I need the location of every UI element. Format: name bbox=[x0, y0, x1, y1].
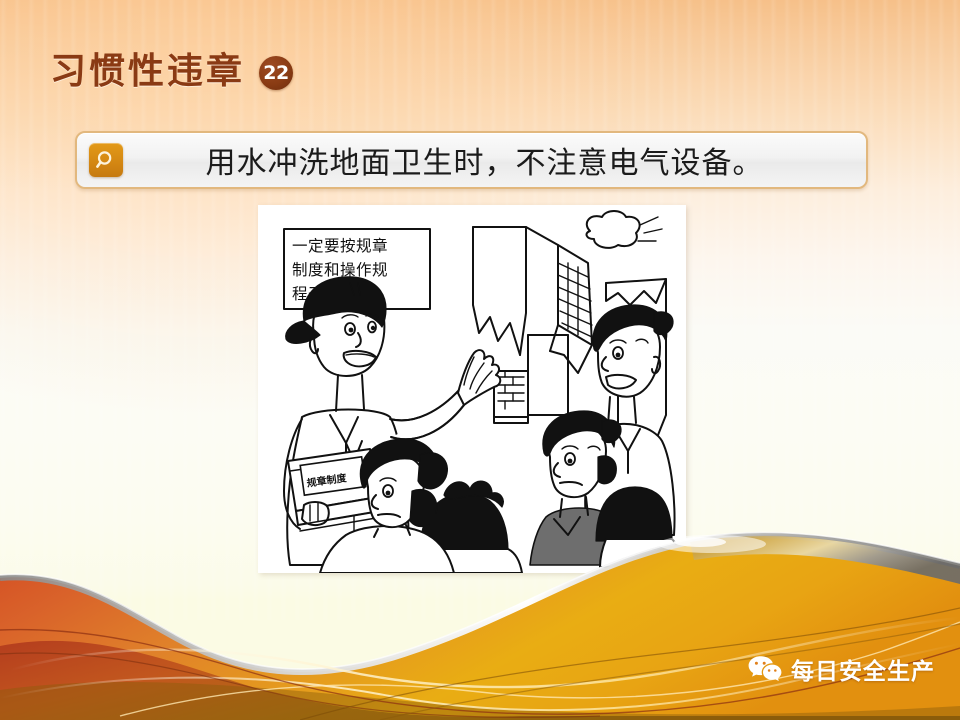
slide-canvas: 习惯性违章 22 用水冲洗地面卫生时，不注意电气设备。 bbox=[0, 0, 960, 720]
page-title-row: 习惯性违章 22 bbox=[50, 45, 293, 97]
bubble-line-2: 制度和操作规 bbox=[292, 261, 388, 279]
cartoon-svg: 一定要按规章 制度和操作规 程干！ bbox=[258, 205, 686, 573]
wechat-icon bbox=[748, 654, 782, 684]
watermark: 每日安全生产 bbox=[748, 652, 935, 686]
bubble-line-1: 一定要按规章 bbox=[292, 237, 388, 255]
decorative-wave bbox=[0, 520, 960, 720]
watermark-text: 每日安全生产 bbox=[791, 652, 935, 686]
search-icon bbox=[89, 143, 123, 177]
wave-svg bbox=[0, 520, 960, 720]
cartoon-illustration: 一定要按规章 制度和操作规 程干！ bbox=[258, 205, 686, 573]
status-badge: 22 bbox=[259, 56, 293, 90]
statement-bar: 用水冲洗地面卫生时，不注意电气设备。 bbox=[75, 131, 868, 189]
page-title: 习惯性违章 bbox=[50, 53, 245, 89]
statement-text: 用水冲洗地面卫生时，不注意电气设备。 bbox=[123, 138, 866, 182]
